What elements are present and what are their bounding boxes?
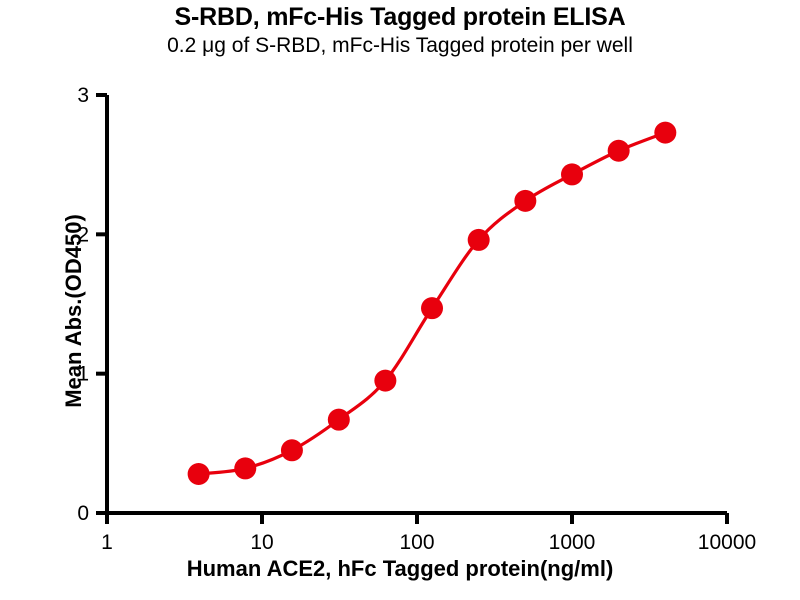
data-points-group [188,122,677,485]
data-point [328,409,350,431]
data-point [468,229,490,251]
x-tick-label: 10 [250,531,273,554]
data-point [234,457,256,479]
x-tick-label: 1 [101,531,113,554]
x-axis-label: Human ACE2, hFc Tagged protein(ng/ml) [0,556,800,582]
data-point [188,463,210,485]
data-point [561,163,583,185]
data-point [608,140,630,162]
x-tick-label: 10000 [698,531,756,554]
plot-area: 110100100010000 0123 [0,0,800,600]
tick-marks-group [96,95,727,524]
data-point [514,190,536,212]
data-point [281,439,303,461]
y-axis-label: Mean Abs.(OD450) [61,111,87,511]
y-tick-label: 3 [77,84,89,107]
data-point [374,370,396,392]
x-tick-label: 100 [399,531,434,554]
data-point [654,122,676,144]
x-tick-label: 1000 [549,531,596,554]
x-tick-labels-group: 110100100010000 [101,531,756,554]
axes-group [105,95,727,513]
elisa-chart-figure: S-RBD, mFc-His Tagged protein ELISA 0.2 … [0,0,800,600]
data-point [421,297,443,319]
